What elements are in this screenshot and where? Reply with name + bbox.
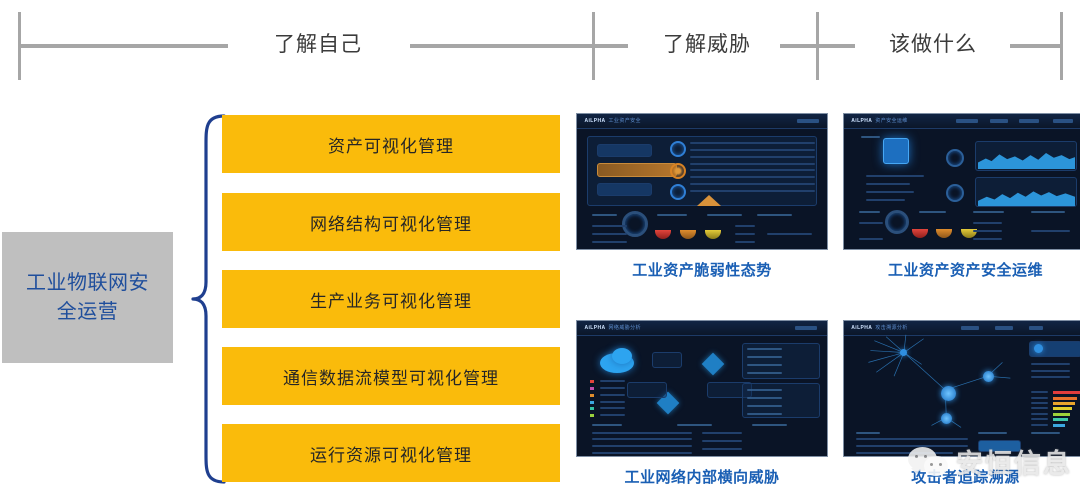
thumb2-attr [866,183,910,185]
thumb4-legend-label [1031,413,1048,415]
thumb1-stat [592,241,627,243]
thumb3-legend-label [600,407,625,409]
screenshot-3-caption: 工业网络内部横向威胁 [576,466,828,487]
thumb2-stat [973,230,1002,232]
thumb1-table-row [690,183,815,185]
thumb1-gauge-2 [670,163,686,179]
screenshot-1-image: AiLPHA工业资产安全 [576,113,828,250]
thumb3-table-row [592,452,692,454]
thumb2-stat [973,238,1002,240]
thumb1-bowl-red [655,230,671,239]
thumb3-table-title [592,424,622,426]
thumb1-stat [592,233,627,235]
capability-bar-2[interactable]: 网络结构可视化管理 [222,193,560,251]
thumb2-widget-title [1031,211,1065,213]
thumb3-table-row [592,438,692,440]
thumb2-area-chart-2 [978,186,1075,206]
thumb3-table-title [752,424,787,426]
thumb3-table-row [702,440,742,442]
thumb2-attr [866,199,905,201]
header-rule-1 [20,44,228,48]
thumb2-bowl-red [912,229,928,238]
capability-bar-3-label: 生产业务可视化管理 [310,287,472,312]
screenshot-1-caption: 工业资产脆弱性态势 [576,259,828,280]
thumb4-text-row [856,452,953,454]
thumb3-legend [590,387,594,390]
thumb2-gauge-1 [946,149,964,167]
thumb1-stat [735,225,755,227]
thumb1-table-row [690,176,815,178]
thumb4-legend-bar [1053,413,1070,416]
thumb4-detail-row [1031,370,1070,372]
thumb1-card-1 [597,144,652,158]
thumb4-legend-bar [1053,407,1072,410]
thumb1-widget-title [657,214,687,216]
left-title-line1: 工业物联网安 [26,269,149,298]
thumb3-right-row [747,389,782,391]
thumb2-stat [973,222,1002,224]
thumb4-actor-node [983,371,994,382]
capability-bar-4-label: 通信数据流模型可视化管理 [283,364,499,389]
thumb3-logo: AiLPHA网络威胁分析 [585,324,641,331]
thumb3-table-row [702,448,742,450]
thumb4-legend-bar [1053,402,1075,405]
thumb2-donut [885,210,909,234]
thumb2-nav [956,119,978,123]
thumb3-legend-label [600,380,625,382]
thumb3-table-row [592,445,692,447]
screenshot-thumbnail-1[interactable]: AiLPHA工业资产安全 [576,113,828,250]
thumb2-attr [866,175,924,177]
thumb3-legend-label [600,414,625,416]
thumb1-table-row [690,149,815,151]
thumb3-legend [590,380,594,383]
thumb1-table-row [690,156,815,158]
thumb1-bowl-orange [680,230,696,239]
thumb3-legend [590,407,594,410]
left-title-line2: 全运营 [26,298,149,327]
thumb3-node-icon [701,353,724,376]
header-divider-mid [592,12,595,80]
thumb1-widget-title [757,214,792,216]
thumb3-legend-label [600,394,625,396]
header-rule-4 [1010,44,1062,48]
screenshot-2-caption: 工业资产资产安全运维 [843,259,1080,280]
thumb2-chip-icon [883,138,909,164]
header-rule-2 [410,44,628,48]
thumb3-cloud-icon [612,348,632,364]
thumb3-right-row [747,405,782,407]
thumb4-text-row [856,445,968,447]
thumb2-widget-title [973,211,1005,213]
thumb3-table-title [677,424,712,426]
left-title-block: 工业物联网安 全运营 [2,232,173,363]
thumb2-nav [1019,119,1039,123]
capability-bar-5-label: 运行资源可视化管理 [310,441,472,466]
thumb1-stat [592,225,627,227]
thumb2-gauge-2 [946,184,964,202]
capability-bar-1[interactable]: 资产可视化管理 [222,115,560,173]
thumb3-right-row [747,364,782,366]
thumb1-stat [767,233,812,235]
thumb1-stat [735,241,755,243]
screenshot-3-image: AiLPHA网络威胁分析 [576,320,828,457]
thumb3-right-row [747,356,782,358]
screenshot-4-caption: 攻击者追踪溯源 [843,466,1080,487]
thumb3-right-row [747,413,782,415]
header-divider-end [1060,12,1063,80]
thumb2-nav [1053,119,1073,123]
screenshot-thumbnail-3[interactable]: AiLPHA网络威胁分析 [576,320,828,457]
thumb2-label [861,136,880,138]
capability-bar-3[interactable]: 生产业务可视化管理 [222,270,560,328]
thumb1-bowl-yellow [705,230,721,239]
thumb4-section-title [978,432,1007,434]
thumb1-gauge-3 [670,184,686,200]
thumb3-table-row [592,432,692,434]
screenshot-thumbnail-4[interactable]: AiLPHA攻击溯源分析 [843,320,1080,457]
screenshot-thumbnail-2[interactable]: AiLPHA资产安全运维 [843,113,1080,250]
thumb4-legend-label [1031,397,1048,399]
thumb3-legend [590,414,594,417]
thumb1-stat [735,233,755,235]
thumb3-legend-label [600,401,625,403]
thumb3-nav [795,326,817,330]
capability-bar-1-label: 资产可视化管理 [328,132,454,157]
screenshot-2-image: AiLPHA资产安全运维 [843,113,1080,250]
thumb2-attr [866,191,915,193]
thumb2-logo: AiLPHA资产安全运维 [851,117,907,124]
thumb3-legend [590,394,594,397]
capability-bar-2-label: 网络结构可视化管理 [310,210,472,235]
brace-icon [190,114,226,484]
thumb4-legend-bar [1053,397,1077,400]
thumb1-widget-title [592,214,617,216]
thumb1-logo: AiLPHA工业资产安全 [585,117,641,124]
thumb1-card-3 [597,183,652,197]
thumb4-avatar-icon [1034,344,1043,353]
thumb1-table-row [690,190,815,192]
thumb3-right-row [747,372,782,374]
thumb2-area-chart-1 [978,149,1075,169]
thumb4-actor-node [941,413,952,424]
thumb2-stat [859,222,883,224]
header-label-what-to-do: 该做什么 [889,28,977,58]
thumb3-right-row [747,348,782,350]
thumb4-detail-row [1031,363,1070,365]
thumb2-stat [859,238,883,240]
thumb2-widget-title [919,211,946,213]
thumb1-gauge-1 [670,141,686,157]
thumb4-legend-label [1031,424,1048,426]
thumb2-nav [990,119,1008,123]
thumb4-legend-bar [1053,418,1068,421]
capability-bar-5[interactable]: 运行资源可视化管理 [222,424,560,482]
header-label-know-yourself: 了解自己 [274,28,362,58]
thumb4-legend-bar [1053,424,1065,427]
thumb4-section-title [856,432,880,434]
thumb2-bowl-orange [936,229,952,238]
thumb1-widget-title [707,214,742,216]
left-title-text: 工业物联网安 全运营 [26,269,149,327]
thumb3-info-box [627,382,667,398]
thumb4-legend-label [1031,402,1048,404]
header-divider-right [816,12,819,80]
thumb2-stat [1031,230,1070,232]
capability-bar-4[interactable]: 通信数据流模型可视化管理 [222,347,560,405]
thumb3-table-row [702,432,742,434]
thumb3-legend [590,401,594,404]
thumb1-card-highlight [597,163,677,178]
header-label-know-threat: 了解威胁 [663,28,751,58]
thumb3-right-row [747,397,782,399]
thumb4-bottom-card [978,440,1022,452]
screenshot-4-image: AiLPHA攻击溯源分析 [843,320,1080,457]
thumb3-info-box [652,352,682,368]
thumb4-actor-node [941,386,956,401]
thumb1-nav [797,119,819,123]
thumb2-widget-title [859,211,881,213]
thumb3-legend-label [600,387,625,389]
thumb1-pyramid-icon [697,195,721,206]
thumb4-legend-bar [1053,391,1080,394]
thumb4-legend-label [1031,391,1048,393]
thumb4-legend-label [1031,418,1048,420]
slide-root: 了解自己 了解威胁 该做什么 工业物联网安 全运营 资产可视化管理 网络结构可视… [0,0,1080,503]
thumb1-table-row [690,163,815,165]
thumb4-section-title [1031,432,1060,434]
